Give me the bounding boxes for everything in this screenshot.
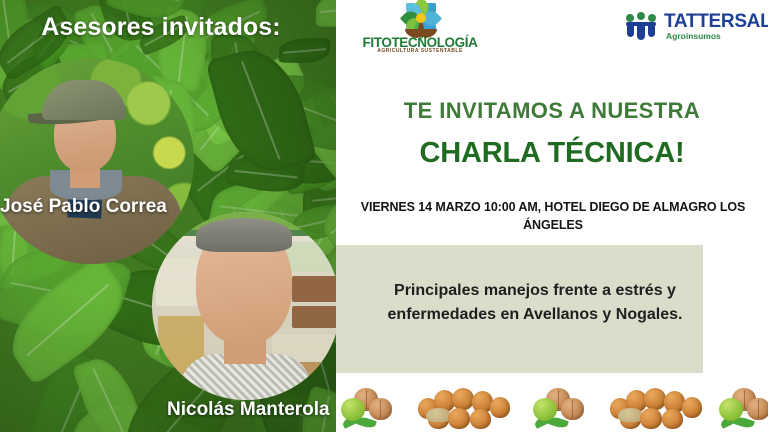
advisor-name-nicolas-manterola: Nicolás Manterola <box>167 399 330 421</box>
green-walnut-icon <box>533 398 557 421</box>
logo-tattersall: TATTERSALL Agroinsumos <box>624 10 756 44</box>
advisor-name-jose-pablo-correa: José Pablo Correa <box>0 196 167 218</box>
logo-row: FITOTECNOLOGÍA AGRICULTURA SUSTENTABLE T… <box>336 0 768 58</box>
event-datetime-location: VIERNES 14 MARZO 10:00 AM, HOTEL DIEGO D… <box>354 198 752 234</box>
hazelnut-cluster <box>416 382 516 430</box>
poster-detail-shape <box>156 258 198 306</box>
tattersall-tree-icon <box>624 12 658 40</box>
green-walnut-icon <box>719 398 743 421</box>
poster-root: Asesores invitados: José Pablo Correa Ni… <box>0 0 768 432</box>
logo-tattersall-tagline: Agroinsumos <box>666 31 721 41</box>
hazelnut-icon <box>662 409 683 429</box>
poster-detail-shape <box>292 276 336 302</box>
hazelnut-cluster <box>608 382 708 430</box>
walnut-cluster <box>532 382 592 430</box>
logo-tattersall-wordmark: TATTERSALL <box>664 11 768 33</box>
walnut-icon <box>369 398 392 420</box>
nuts-strip <box>336 373 768 432</box>
topic-text: Principales manejos frente a estrés y en… <box>370 279 700 327</box>
invite-headline-secondary: CHARLA TÉCNICA! <box>336 137 768 170</box>
hazelnut-icon <box>452 388 474 410</box>
logo-fitotecnologia: FITOTECNOLOGÍA AGRICULTURA SUSTENTABLE <box>354 2 486 56</box>
flower-center-icon <box>416 13 426 23</box>
page-title: Asesores invitados: <box>0 13 322 42</box>
walnut-cluster <box>718 382 768 430</box>
tree-leg-left-shape <box>627 24 634 37</box>
hazelnut-icon <box>640 408 662 429</box>
hazelnut-icon <box>682 397 702 418</box>
tattersall-dot-icon <box>648 14 656 22</box>
hazelnut-icon <box>448 408 470 429</box>
tree-stem-shape <box>637 24 645 40</box>
hazelnut-icon <box>470 409 491 429</box>
flower-tree-icon <box>398 2 444 36</box>
walnut-icon <box>561 398 584 420</box>
logo-fitotecnologia-tagline: AGRICULTURA SUSTENTABLE <box>354 48 486 54</box>
walnut-cluster <box>340 382 400 430</box>
hazelnut-icon <box>490 397 510 418</box>
tattersall-dot-icon <box>637 12 645 20</box>
invite-headline-primary: TE INVITAMOS A NUESTRA <box>336 98 768 124</box>
hair-shape <box>196 218 292 252</box>
tattersall-dot-icon <box>626 14 634 22</box>
tree-leg-right-shape <box>648 24 655 37</box>
poster-detail-shape <box>292 306 336 328</box>
hazelnut-icon <box>644 388 666 410</box>
advisor-photo-nicolas-manterola <box>152 212 336 400</box>
green-walnut-icon <box>341 398 365 421</box>
walnut-icon <box>747 398 768 420</box>
